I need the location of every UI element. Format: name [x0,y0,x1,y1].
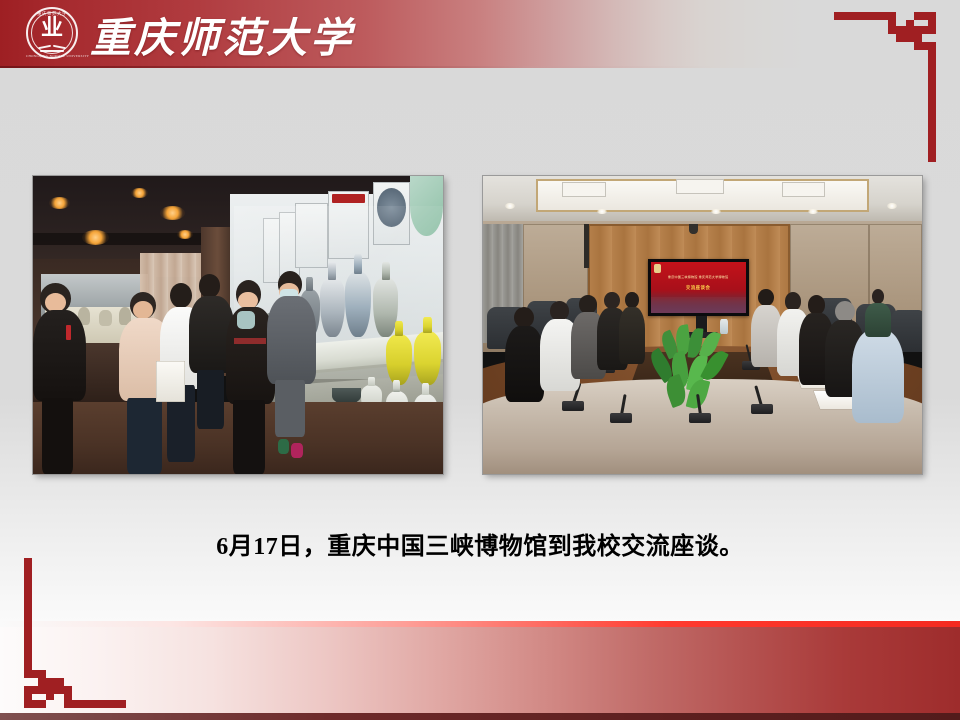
logo-rim-bottom-text: CHONGQING NORMAL UNIVERSITY [26,54,78,58]
university-wordmark: 重庆师范大学 [90,6,354,62]
footer-banner [0,627,960,714]
screen-subtitle-text: 交流座谈会 [651,285,746,291]
photo-conference-meeting: 重庆中国三峡博物馆 重庆师范大学博物馆 交流座谈会 [483,176,922,474]
slide-caption: 6月17日，重庆中国三峡博物馆到我校交流座谈。 [0,532,960,562]
university-logo-icon: 重庆师范大学 业 CHONGQING NORMAL UNIVERSITY [26,7,82,63]
logo-book-icon [38,43,66,51]
corner-ornament-top-right-icon [834,12,942,162]
footer-bottom-rule [0,713,960,720]
presentation-slide: 重庆师范大学 业 CHONGQING NORMAL UNIVERSITY 重庆师… [0,0,960,720]
corner-ornament-bottom-left-icon [18,558,126,708]
photo-museum-exhibition [33,176,443,474]
logo-center-glyph: 业 [26,17,78,39]
screen-title-text: 重庆中国三峡博物馆 重庆师范大学博物馆 [651,274,746,279]
presentation-screen: 重庆中国三峡博物馆 重庆师范大学博物馆 交流座谈会 [648,259,749,316]
